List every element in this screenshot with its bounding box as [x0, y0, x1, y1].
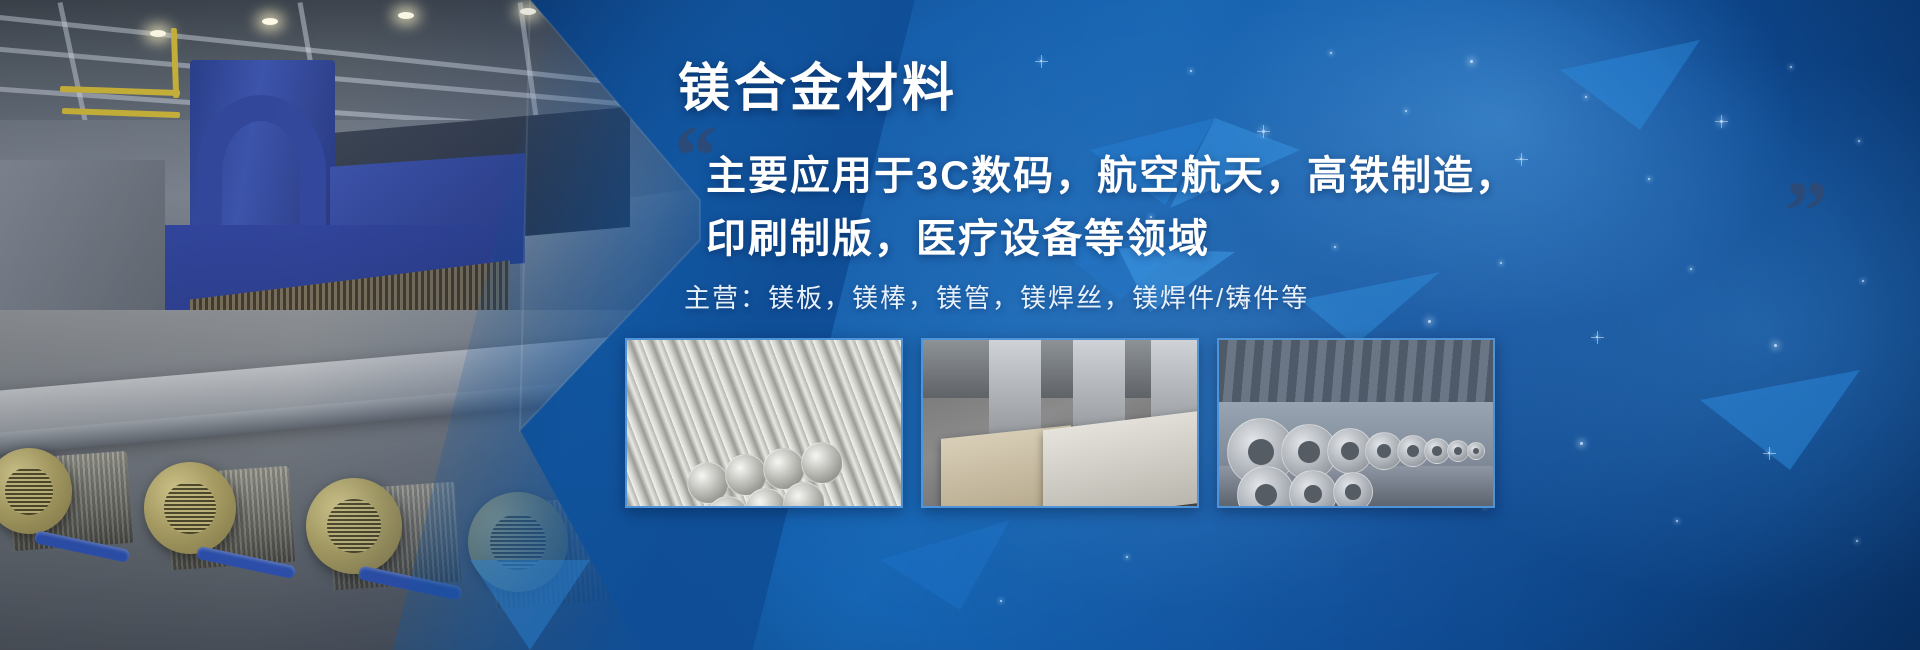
subtitle-line-1: 主要应用于3C数码，航空航天，高铁制造，	[706, 143, 1517, 201]
product-banner: 镁合金材料 “ 主要应用于3C数码，航空航天，高铁制造， 印刷制版，医疗设备等领…	[0, 0, 1920, 650]
main-products-text: 主营：镁板，镁棒，镁管，镁焊丝，镁焊件/铸件等	[684, 278, 1309, 315]
page-title: 镁合金材料	[678, 46, 958, 121]
thumb-magnesium-bars[interactable]	[625, 338, 903, 508]
banner-content: 镁合金材料 “ 主要应用于3C数码，航空航天，高铁制造， 印刷制版，医疗设备等领…	[672, 0, 1852, 650]
product-thumbnail-gallery	[625, 338, 1495, 508]
quote-close-mark: ”	[1785, 168, 1828, 254]
subtitle-line-2: 印刷制版，医疗设备等领域	[706, 206, 1210, 264]
thumb-magnesium-plates[interactable]	[921, 338, 1199, 508]
thumb-magnesium-coils[interactable]	[1217, 338, 1495, 508]
